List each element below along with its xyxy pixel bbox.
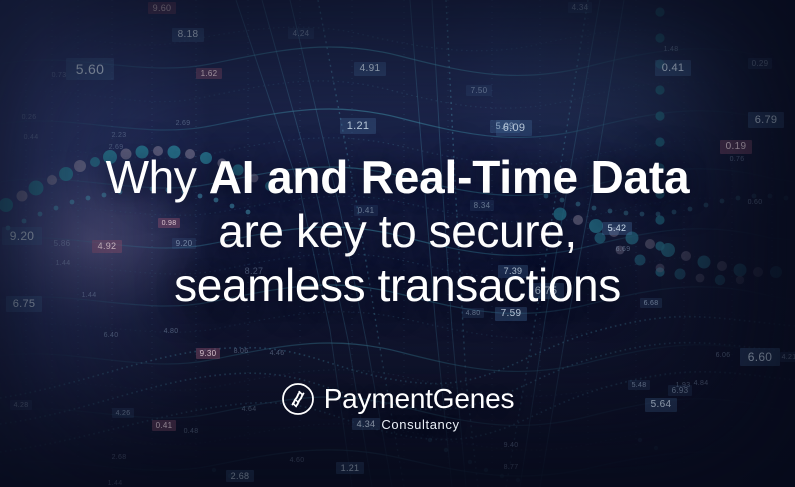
value-chip: 6.79 <box>748 112 784 128</box>
value-chip: 6.40 <box>100 330 122 340</box>
value-chip: 0.41 <box>655 60 691 76</box>
value-chip: 0.44 <box>20 132 42 142</box>
value-chip: 4.34 <box>568 2 592 13</box>
brand-tagline: Consultancy <box>381 417 459 432</box>
value-chip: 5.60 <box>66 58 114 80</box>
value-chip: 7.50 <box>466 85 492 96</box>
value-chip: 9.40 <box>500 440 522 450</box>
value-chip: 2.69 <box>172 118 194 128</box>
headline-line-3: seamless transactions <box>0 258 795 312</box>
value-chip: 0.73 <box>48 70 70 80</box>
value-chip: 0.26 <box>18 112 40 122</box>
value-chip: 1.21 <box>336 462 364 474</box>
dna-strand-circle-icon <box>281 382 315 416</box>
value-chip: 2.68 <box>226 470 254 482</box>
value-chip: 4.80 <box>160 326 182 336</box>
headline-line-1: Why AI and Real-Time Data <box>0 150 795 204</box>
value-chip: 4.24 <box>288 28 314 39</box>
value-chip: 1.48 <box>660 44 682 54</box>
brand-logo-row: PaymentGenes <box>281 382 515 416</box>
value-chip: 4.46 <box>266 348 288 358</box>
brand-logo: PaymentGenes Consultancy <box>0 382 795 432</box>
value-chip: 4.60 <box>286 455 308 465</box>
value-chip: 6.09 <box>496 120 532 136</box>
hero-banner: 9.608.184.240.415.600.731.624.917.505.09… <box>0 0 795 487</box>
value-chip: 8.18 <box>172 28 204 42</box>
value-chip: 8.77 <box>500 462 522 472</box>
headline-block: Why AI and Real-Time Data are key to sec… <box>0 150 795 312</box>
value-chip: 1.44 <box>104 478 126 487</box>
headline-line-1-bold: AI and Real-Time Data <box>209 151 690 203</box>
value-chip: 2.68 <box>108 452 130 462</box>
value-chip: 6.60 <box>740 348 780 366</box>
value-chip: 2.23 <box>108 130 130 140</box>
value-chip: 9.60 <box>148 2 176 14</box>
value-chip: 9.30 <box>196 348 220 359</box>
headline-line-2: are key to secure, <box>0 204 795 258</box>
value-chip: 6.06 <box>712 350 734 360</box>
headline-line-1-plain: Why <box>106 151 209 203</box>
value-chip: 1.21 <box>340 118 376 134</box>
brand-name: PaymentGenes <box>324 384 515 414</box>
value-chip: 4.91 <box>354 62 386 76</box>
value-chip: 8.06 <box>230 346 252 356</box>
value-chip: 0.29 <box>748 58 772 69</box>
value-chip: 4.21 <box>780 352 795 362</box>
value-chip: 1.62 <box>196 68 222 79</box>
